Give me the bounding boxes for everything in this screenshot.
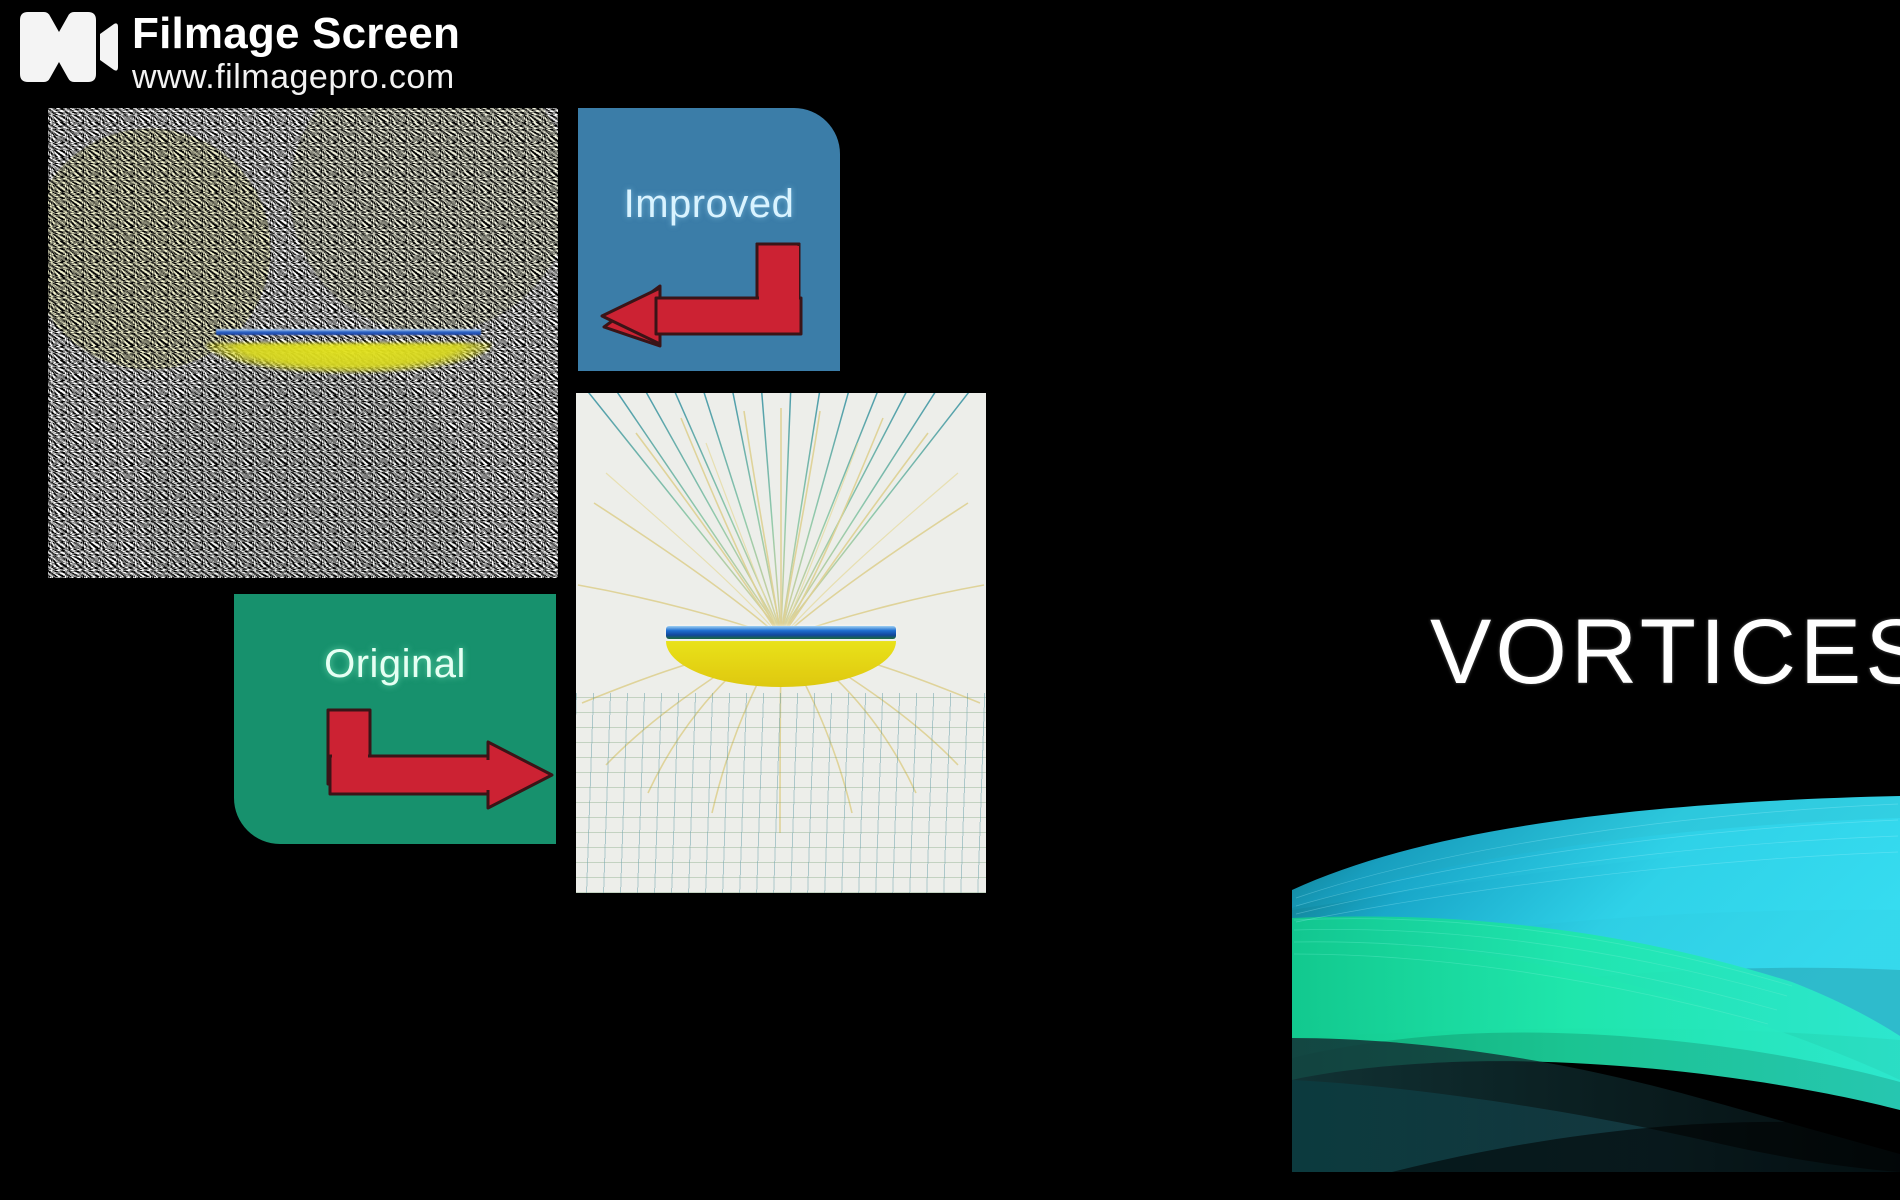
- ribbon-graphic: [1272, 790, 1900, 1172]
- noisy-foil-bar: [216, 329, 481, 335]
- callout-original[interactable]: Original: [234, 594, 556, 844]
- arrow-down-right-elbow-icon: [320, 706, 560, 824]
- perspective-grid-floor: [576, 693, 986, 893]
- arrow-down-left-elbow-icon: [594, 240, 824, 350]
- page-title: VORTICES: [1430, 600, 1900, 705]
- vortex-ribbon-figure: [1272, 790, 1900, 1172]
- watermark-title: Filmage Screen: [132, 12, 460, 56]
- callout-improved[interactable]: Improved: [578, 108, 840, 371]
- watermark: Filmage Screen www.filmagepro.com: [14, 8, 460, 94]
- watermark-url: www.filmagepro.com: [132, 60, 460, 94]
- improved-streamline-figure: [576, 393, 986, 893]
- slide-canvas: Filmage Screen www.filmagepro.com Improv…: [0, 0, 1900, 1200]
- noisy-original-figure: [48, 108, 558, 578]
- stream-foil-bar: [666, 626, 896, 639]
- callout-original-label: Original: [234, 642, 556, 687]
- watermark-text: Filmage Screen www.filmagepro.com: [132, 8, 460, 94]
- film-camera-logo-icon: [14, 8, 118, 86]
- callout-improved-label: Improved: [578, 182, 840, 227]
